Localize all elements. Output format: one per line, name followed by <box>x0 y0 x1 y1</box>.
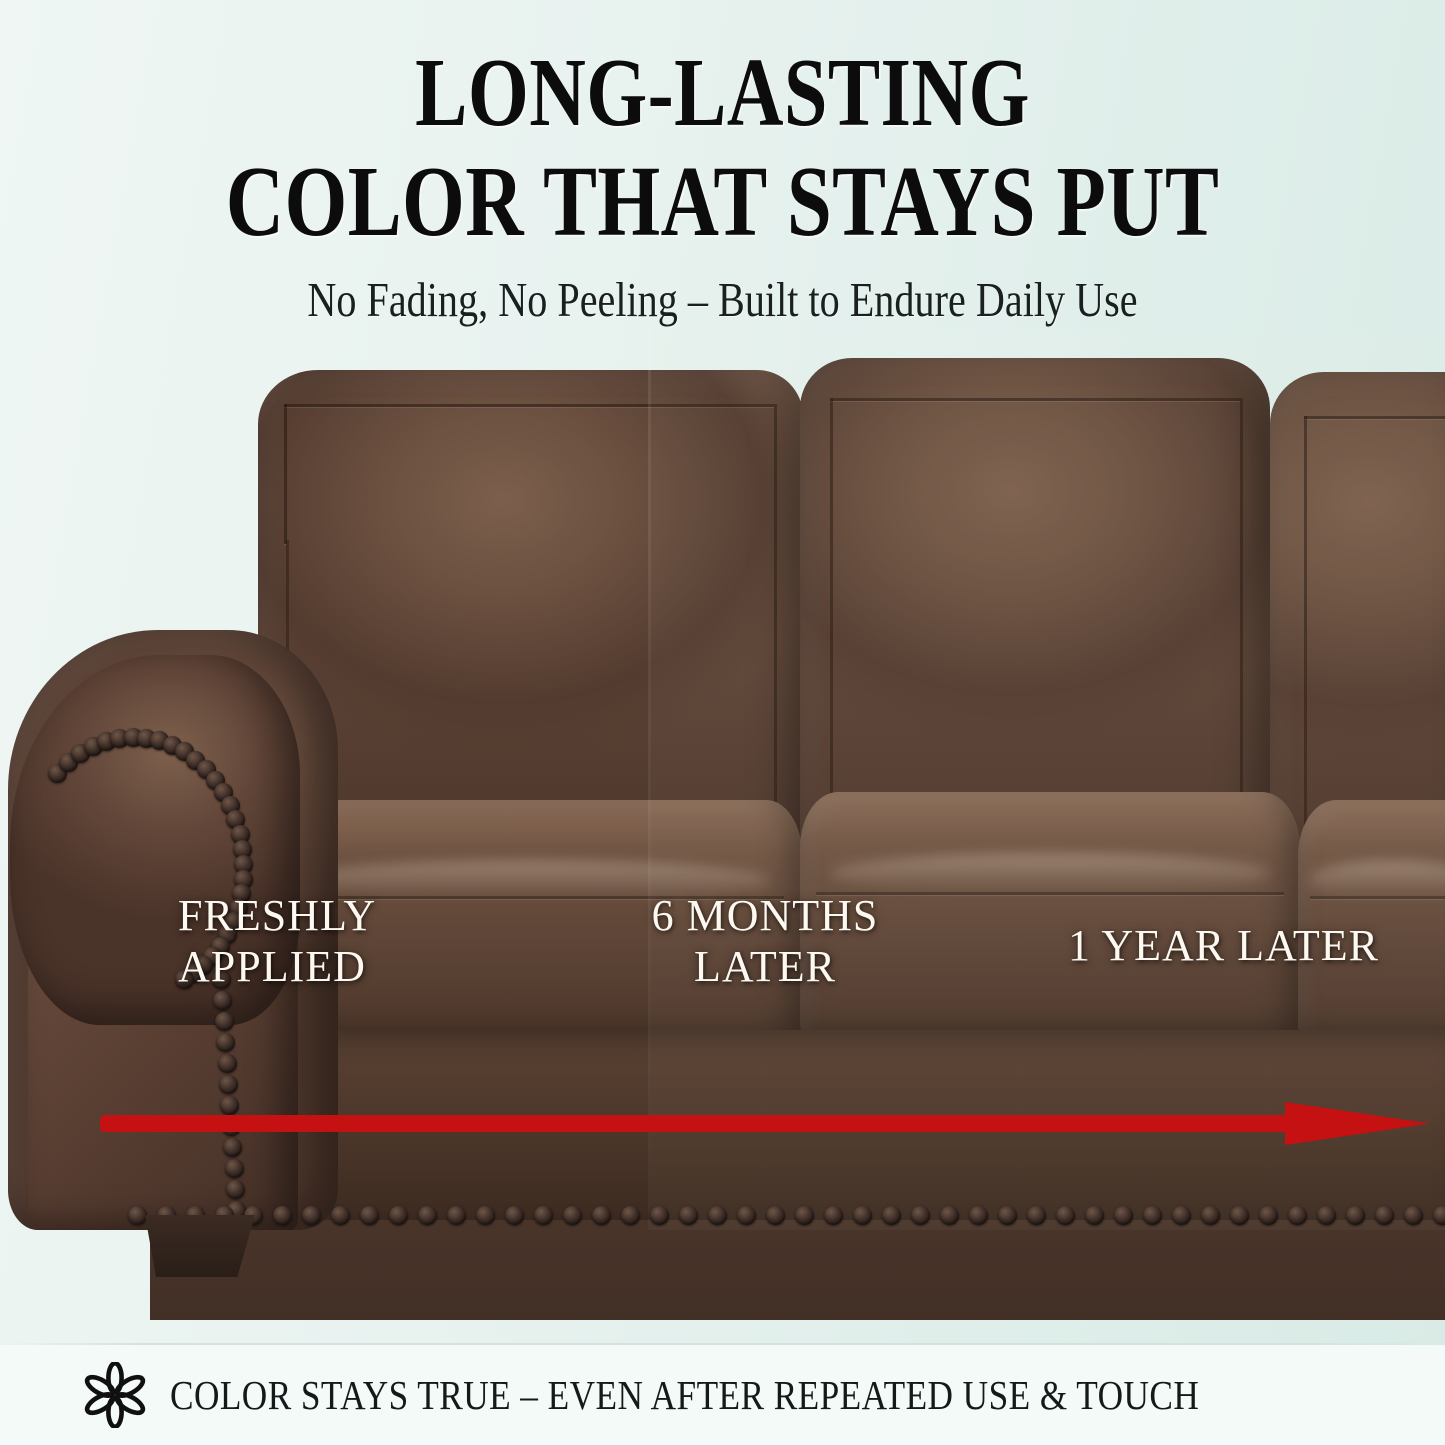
nailhead-stud <box>1143 1206 1162 1225</box>
stage-label-line-2: APPLIED <box>178 941 376 992</box>
nailhead-stud <box>1230 1206 1249 1225</box>
nailhead-stud <box>621 1206 640 1225</box>
nailhead-stud <box>302 1206 321 1225</box>
promotional-image: LONG-LASTING COLOR THAT STAYS PUT No Fad… <box>0 0 1445 1445</box>
nailhead-stud <box>218 1054 237 1073</box>
nailhead-stud <box>853 1206 872 1225</box>
footer-bar: COLOR STAYS TRUE – EVEN AFTER REPEATED U… <box>0 1345 1445 1445</box>
headline-line-1: LONG-LASTING <box>145 0 1301 139</box>
nailhead-stud <box>1375 1206 1394 1225</box>
nailhead-stud <box>679 1206 698 1225</box>
nailhead-stud <box>505 1206 524 1225</box>
nailhead-stud <box>766 1206 785 1225</box>
nailhead-stud <box>1056 1206 1075 1225</box>
nailhead-stud <box>563 1206 582 1225</box>
stage-label-six-months: 6 MONTHS LATER <box>640 890 890 992</box>
nailhead-stud <box>737 1206 756 1225</box>
nailhead-stud <box>1201 1206 1220 1225</box>
nailhead-stud <box>969 1206 988 1225</box>
nailhead-stud <box>534 1206 553 1225</box>
nailhead-stud <box>650 1206 669 1225</box>
nailhead-stud <box>1085 1206 1104 1225</box>
nailhead-stud <box>1404 1206 1423 1225</box>
nailhead-stud <box>1288 1206 1307 1225</box>
stage-label-line-2: LATER <box>640 941 890 992</box>
sofa-foot <box>145 1215 255 1277</box>
nailhead-stud <box>940 1206 959 1225</box>
header-block: LONG-LASTING COLOR THAT STAYS PUT No Fad… <box>0 0 1445 328</box>
arrow-head-icon <box>1285 1102 1430 1145</box>
nailhead-stud <box>219 1075 238 1094</box>
nailhead-stud <box>795 1206 814 1225</box>
nailhead-stud <box>1027 1206 1046 1225</box>
nailhead-stud <box>418 1206 437 1225</box>
nailhead-stud <box>128 1206 147 1225</box>
stage-label-freshly-applied: FRESHLY APPLIED <box>178 890 376 992</box>
nailhead-stud <box>226 1180 245 1199</box>
nailhead-stud <box>1433 1206 1445 1225</box>
nailhead-stud <box>1114 1206 1133 1225</box>
tone-panel-right <box>651 330 1445 1230</box>
flower-asterisk-icon <box>82 1362 148 1428</box>
nailhead-stud <box>998 1206 1017 1225</box>
stage-label-one-year: 1 YEAR LATER <box>1068 920 1379 971</box>
nailhead-stud <box>1346 1206 1365 1225</box>
nailhead-stud <box>447 1206 466 1225</box>
stage-label-line-1: 1 YEAR LATER <box>1068 920 1379 971</box>
nailhead-stud <box>1172 1206 1191 1225</box>
headline-line-2: COLOR THAT STAYS PUT <box>145 139 1301 249</box>
nailhead-stud <box>1259 1206 1278 1225</box>
nailhead-stud <box>592 1206 611 1225</box>
nailhead-stud <box>331 1206 350 1225</box>
nailhead-stud <box>911 1206 930 1225</box>
nailhead-stud <box>360 1206 379 1225</box>
nailhead-stud <box>882 1206 901 1225</box>
nailhead-stud <box>273 1206 292 1225</box>
nailhead-stud <box>225 1159 244 1178</box>
page-title: LONG-LASTING COLOR THAT STAYS PUT <box>0 0 1445 249</box>
nailhead-stud <box>389 1206 408 1225</box>
arrow-shaft <box>100 1115 1315 1132</box>
nailhead-stud <box>215 1012 234 1031</box>
footer-tagline: COLOR STAYS TRUE – EVEN AFTER REPEATED U… <box>170 1371 1199 1419</box>
nailhead-stud <box>1317 1206 1336 1225</box>
nailhead-stud <box>824 1206 843 1225</box>
sofa-photo <box>0 330 1445 1320</box>
timeline-arrow <box>100 1100 1430 1146</box>
nailhead-stud <box>476 1206 495 1225</box>
nailhead-stud <box>708 1206 727 1225</box>
stage-label-line-1: FRESHLY <box>178 890 376 941</box>
subheadline: No Fading, No Peeling – Built to Endure … <box>130 271 1315 328</box>
tone-panel-divider <box>648 330 651 1230</box>
stage-label-line-1: 6 MONTHS <box>640 890 890 941</box>
